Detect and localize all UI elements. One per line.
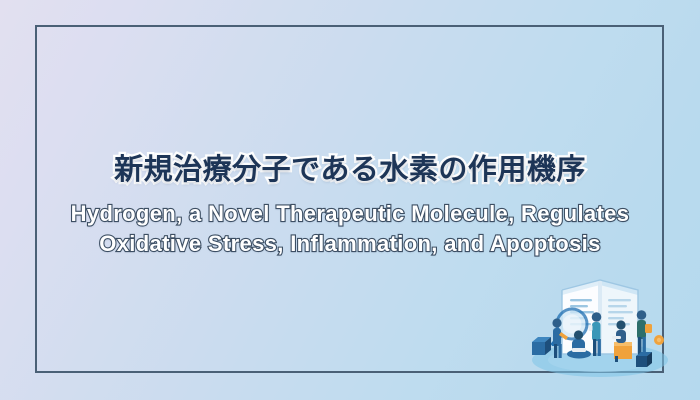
coin-inner xyxy=(657,338,661,342)
research-document-illustration xyxy=(526,268,674,384)
cube-left xyxy=(532,337,551,355)
page-title-japanese: 新規治療分子である水素の作用機序 xyxy=(114,152,586,187)
title-slide: 新規治療分子である水素の作用機序 Hydrogen, a Novel Thera… xyxy=(0,0,700,400)
standing-person-right xyxy=(637,310,652,355)
cube-right xyxy=(636,352,652,367)
page-subtitle-english: Hydrogen, a Novel Therapeutic Molecule, … xyxy=(44,199,656,258)
